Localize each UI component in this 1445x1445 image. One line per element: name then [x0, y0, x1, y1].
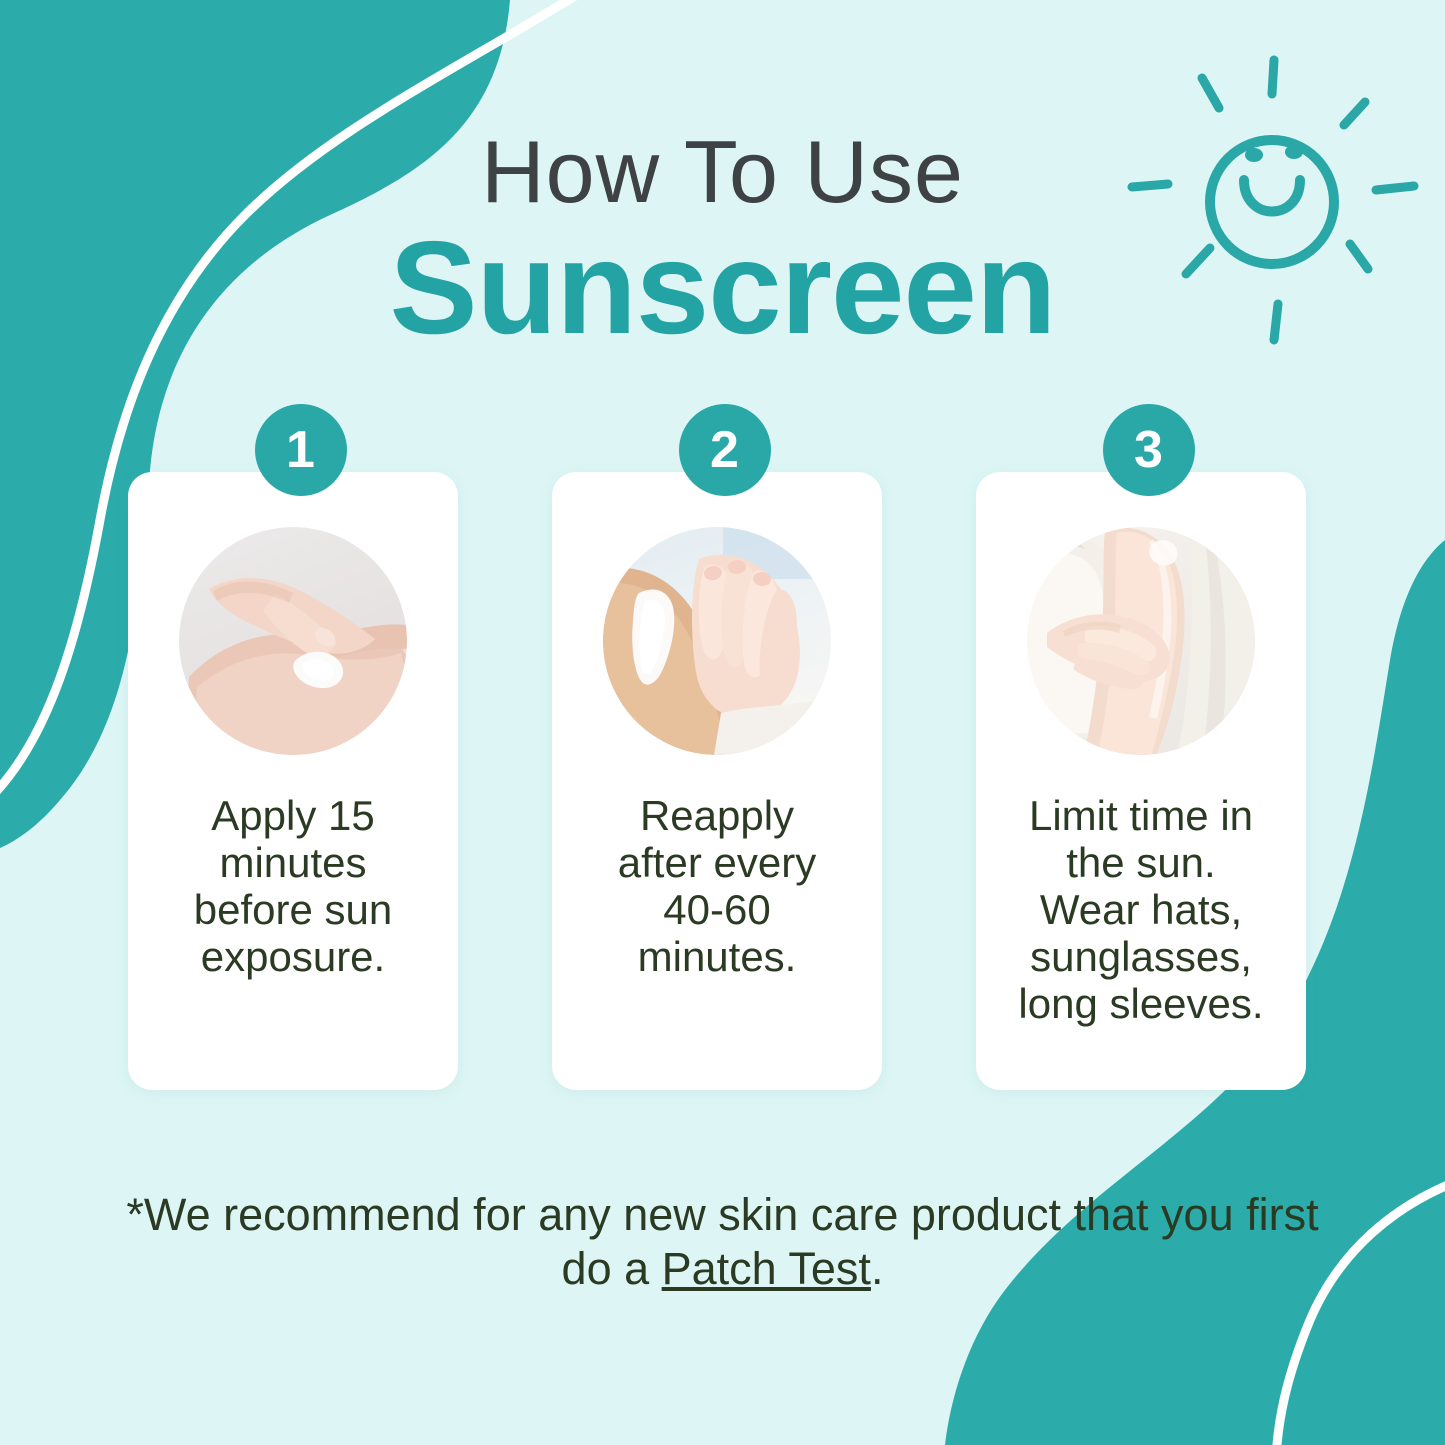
- sun-ray-right: [1376, 186, 1414, 190]
- sun-eye-right: [1285, 145, 1303, 159]
- step-card-2: 2: [552, 404, 897, 1104]
- step-photo-2: [603, 527, 831, 755]
- step-text-3: Limit time in the sun. Wear hats, sungla…: [984, 792, 1298, 1027]
- step-photo-1: [179, 527, 407, 755]
- sun-ray-bottom-right: [1350, 244, 1368, 269]
- step-text-2: Reapply after every 40-60 minutes.: [560, 792, 874, 980]
- step-number-badge-1: 1: [255, 404, 347, 496]
- patch-test-link[interactable]: Patch Test: [662, 1243, 871, 1294]
- step-card-body-3: Limit time in the sun. Wear hats, sungla…: [976, 472, 1306, 1090]
- sun-ray-top: [1272, 60, 1274, 94]
- steps-row: 1: [0, 404, 1445, 1104]
- step-card-3: 3: [976, 404, 1321, 1104]
- footer-text-after: .: [871, 1243, 884, 1294]
- sun-ray-bottom-left: [1186, 248, 1210, 274]
- sun-ray-top-left: [1202, 78, 1219, 108]
- sun-ray-top-right: [1344, 102, 1365, 125]
- sun-face-outline: [1210, 140, 1334, 264]
- sunscreen-infographic-poster: How To Use Sunscreen 1: [0, 0, 1445, 1445]
- smiling-sun-icon: [1122, 52, 1422, 352]
- sun-eye-left: [1245, 148, 1263, 162]
- step-card-1: 1: [128, 404, 473, 1104]
- step-card-body-2: Reapply after every 40-60 minutes.: [552, 472, 882, 1090]
- footer-note: *We recommend for any new skin care prod…: [100, 1188, 1345, 1296]
- sun-smile: [1244, 180, 1300, 212]
- step-text-1: Apply 15 minutes before sun exposure.: [136, 792, 450, 980]
- step-number-badge-3: 3: [1103, 404, 1195, 496]
- step-photo-3: [1027, 527, 1255, 755]
- sun-ray-left: [1132, 184, 1168, 187]
- step-card-body-1: Apply 15 minutes before sun exposure.: [128, 472, 458, 1090]
- sun-ray-bottom: [1274, 304, 1278, 340]
- step-number-badge-2: 2: [679, 404, 771, 496]
